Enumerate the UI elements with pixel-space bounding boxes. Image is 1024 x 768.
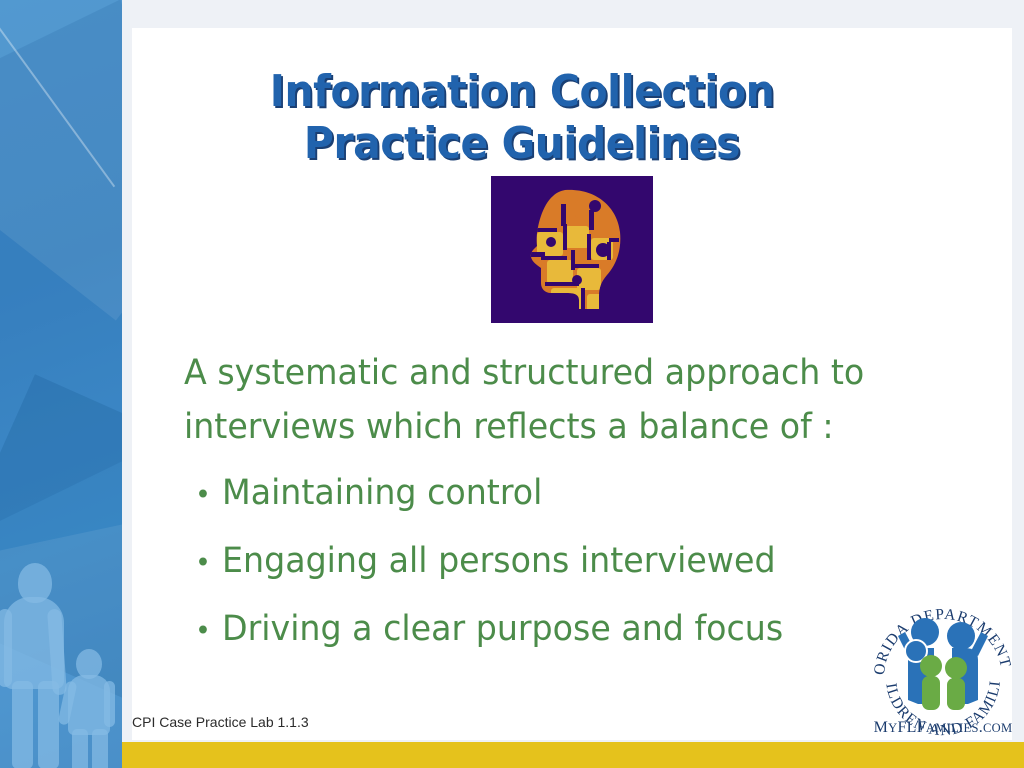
bottom-accent-bar (122, 742, 1024, 768)
bullet-icon: • (184, 468, 222, 522)
list-item: • Maintaining control (184, 466, 935, 522)
svg-text:MYFLFAMILIES.COM: MYFLFAMILIES.COM (874, 719, 1013, 736)
list-item: • Engaging all persons interviewed (184, 534, 935, 590)
slide-title: Information Collection Practice Guidelin… (132, 66, 912, 170)
florida-dcf-logo-icon: · FLORIDA DEPARTMENT OF · CHILDREN AND F… (868, 594, 1018, 742)
child-silhouette-right-leg (92, 729, 108, 768)
slide-body: A systematic and structured approach to … (184, 346, 974, 658)
title-line-1: Information Collection (159, 66, 884, 118)
adult-silhouette-left-arm (0, 609, 12, 687)
list-item: • Driving a clear purpose and focus (184, 602, 935, 658)
footer-note: CPI Case Practice Lab 1.1.3 (132, 714, 309, 730)
child-silhouette-left-leg (72, 729, 88, 768)
title-line-2: Practice Guidelines (159, 118, 884, 170)
bullet-label-1: Maintaining control (222, 466, 935, 520)
family-silhouette-graphic (0, 553, 122, 768)
presentation-slide: Information Collection Practice Guidelin… (0, 0, 1024, 768)
intro-paragraph: A systematic and structured approach to … (184, 346, 935, 454)
adult-silhouette-left-leg (12, 681, 33, 768)
child-silhouette-right-arm (104, 681, 115, 727)
adult-silhouette-right-leg (38, 681, 59, 768)
bullet-icon: • (184, 604, 222, 658)
puzzle-head-icon (491, 176, 653, 323)
dcf-logo: · FLORIDA DEPARTMENT OF · CHILDREN AND F… (868, 594, 1018, 742)
slide-content-card: Information Collection Practice Guidelin… (132, 28, 1012, 740)
bullet-icon: • (184, 536, 222, 590)
puzzle-head-graphic (491, 176, 653, 323)
bullet-label-2: Engaging all persons interviewed (222, 534, 935, 588)
bullet-label-3: Driving a clear purpose and focus (222, 602, 935, 656)
decorative-blue-panel (0, 0, 122, 768)
